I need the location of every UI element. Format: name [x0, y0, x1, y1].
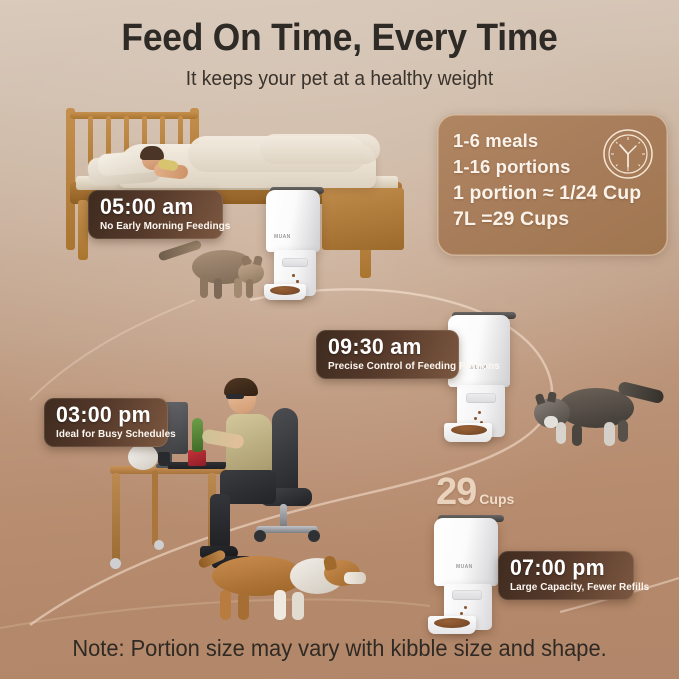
capacity-callout: 29Cups	[436, 473, 514, 511]
time-badge-0300pm-time: 03:00 pm	[56, 402, 153, 428]
time-badge-0700pm-time: 07:00 pm	[510, 555, 619, 581]
feeder-cat: MUAN	[448, 315, 520, 443]
time-badge-0300pm: 03:00 pm Ideal for Busy Schedules	[44, 398, 168, 447]
time-badge-0300pm-desc: Ideal for Busy Schedules	[56, 428, 151, 441]
time-badge-0930am-time: 09:30 am	[328, 334, 443, 360]
time-badge-0700pm: 07:00 pm Large Capacity, Fewer Refills	[498, 551, 634, 600]
footer-note: Note: Portion size may vary with kibble …	[17, 633, 662, 663]
time-badge-0500am-time: 05:00 am	[100, 194, 208, 220]
time-badge-0930am: 09:30 am Precise Control of Feeding Port…	[316, 330, 459, 379]
spec-line-portion-cup: 1 portion ≈ 1/24 Cup	[453, 180, 656, 206]
clock-icon	[602, 128, 654, 180]
feeder-bedroom: MUAN	[266, 190, 328, 300]
cat-fluffy	[530, 382, 666, 448]
time-badge-0700pm-desc: Large Capacity, Fewer Refills	[510, 581, 616, 594]
feeder-brand-dog: MUAN	[456, 564, 473, 570]
dog-walking	[198, 548, 376, 622]
time-badge-0500am-desc: No Early Morning Feedings	[100, 220, 205, 233]
feeder-dog: MUAN	[434, 518, 508, 634]
spec-info-card: 1-6 meals 1-16 portions 1 portion ≈ 1/24…	[437, 114, 668, 256]
capacity-callout-unit: Cups	[479, 491, 514, 507]
capacity-callout-number: 29	[436, 473, 476, 511]
page-title: Feed On Time, Every Time	[24, 16, 655, 60]
time-badge-0930am-desc: Precise Control of Feeding Portions	[328, 360, 441, 373]
spec-line-capacity: 7L =29 Cups	[453, 206, 656, 232]
page-subtitle: It keeps your pet at a healthy weight	[14, 66, 666, 92]
time-badge-0500am: 05:00 am No Early Morning Feedings	[88, 190, 223, 239]
infographic-poster: MUAN MUAN	[0, 0, 679, 679]
feeder-brand-bedroom: MUAN	[274, 234, 291, 240]
